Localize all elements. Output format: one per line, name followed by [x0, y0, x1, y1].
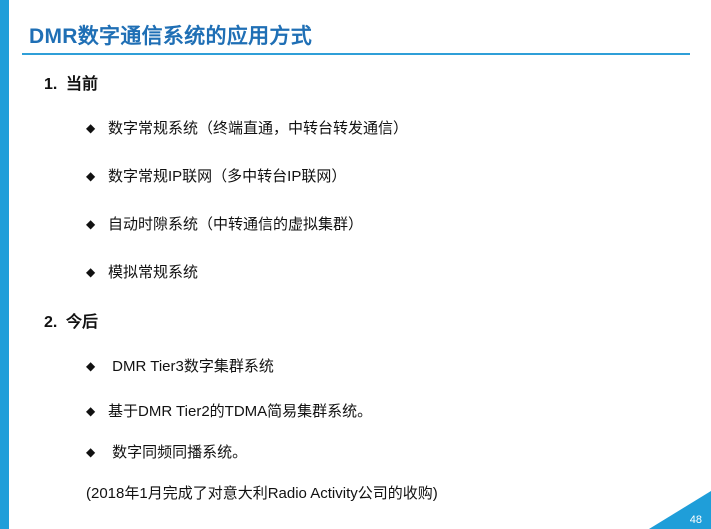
- slide: DMR数字通信系统的应用方式 1.当前 ◆数字常规系统（终端直通，中转台转发通信…: [0, 0, 711, 529]
- diamond-bullet-icon: ◆: [86, 445, 108, 459]
- page-number: 48: [690, 514, 702, 526]
- list-item-text: 数字同频同播系统。: [108, 444, 247, 461]
- list-item-text: 数字常规系统（终端直通，中转台转发通信）: [108, 120, 408, 137]
- list-item-text: 基于DMR Tier2的TDMA简易集群系统。: [108, 403, 372, 420]
- section-number-2: 2.: [44, 314, 66, 332]
- section-heading-1: 1.当前: [44, 70, 98, 94]
- section-title-2: 今后: [66, 314, 98, 331]
- diamond-bullet-icon: ◆: [86, 121, 108, 135]
- list-item: ◆模拟常规系统: [86, 261, 198, 282]
- list-item-text: DMR Tier3数字集群系统: [108, 358, 274, 375]
- list-item: ◆数字常规IP联网（多中转台IP联网）: [86, 165, 346, 186]
- list-item-text: 数字常规IP联网（多中转台IP联网）: [108, 168, 346, 185]
- section-number-1: 1.: [44, 76, 66, 94]
- list-item-text: 模拟常规系统: [108, 264, 198, 281]
- left-accent-bar: [0, 0, 9, 529]
- acquisition-note: (2018年1月完成了对意大利Radio Activity公司的收购): [86, 482, 438, 503]
- diamond-bullet-icon: ◆: [86, 169, 108, 183]
- page-title: DMR数字通信系统的应用方式: [29, 20, 312, 50]
- section-heading-2: 2.今后: [44, 308, 98, 332]
- list-item: ◆数字常规系统（终端直通，中转台转发通信）: [86, 117, 408, 138]
- list-item: ◆基于DMR Tier2的TDMA简易集群系统。: [86, 400, 372, 421]
- diamond-bullet-icon: ◆: [86, 265, 108, 279]
- list-item-text: 自动时隙系统（中转通信的虚拟集群）: [108, 216, 363, 233]
- diamond-bullet-icon: ◆: [86, 404, 108, 418]
- title-divider: [22, 53, 690, 55]
- list-item: ◆ DMR Tier3数字集群系统: [86, 355, 274, 376]
- list-item: ◆自动时隙系统（中转通信的虚拟集群）: [86, 213, 363, 234]
- list-item: ◆ 数字同频同播系统。: [86, 441, 247, 462]
- diamond-bullet-icon: ◆: [86, 359, 108, 373]
- section-title-1: 当前: [66, 76, 98, 93]
- diamond-bullet-icon: ◆: [86, 217, 108, 231]
